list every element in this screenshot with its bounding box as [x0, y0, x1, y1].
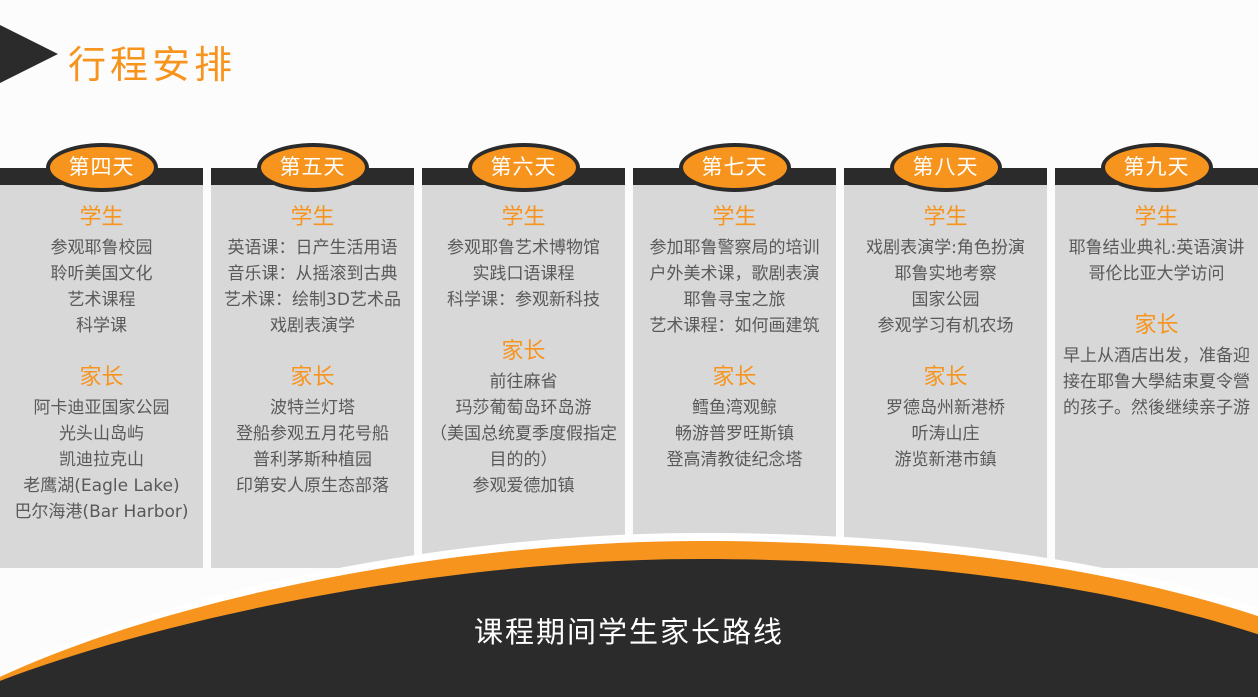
section-spacer	[4, 339, 199, 361]
parent-section-label-4: 家长	[637, 363, 832, 393]
list-item: 戏剧表演学	[215, 313, 410, 339]
list-item: 游览新港市鎮	[848, 447, 1043, 473]
day-badge-3[interactable]: 第六天	[468, 143, 580, 192]
page-title: 行程安排	[68, 34, 236, 89]
list-item: 戏剧表演学:角色扮演	[848, 235, 1043, 261]
list-item: （美国总统夏季度假指定目的的）	[426, 421, 621, 473]
column-body-1: 学生 参观耶鲁校园 聆听美国文化 艺术课程 科学课 家长 阿卡迪亚国家公园 光头…	[0, 185, 203, 568]
day-column-5[interactable]: 第八天 学生 戏剧表演学:角色扮演 耶鲁实地考察 国家公园 参观学习有机农场 家…	[844, 168, 1047, 568]
list-item: 实践口语课程	[426, 261, 621, 287]
student-section-label-6: 学生	[1059, 203, 1254, 233]
day-column-2[interactable]: 第五天 学生 英语课：日产生活用语 音乐课：从摇滚到古典 艺术课：绘制3D艺术品…	[211, 168, 414, 568]
section-spacer	[848, 339, 1043, 361]
parent-section-label-1: 家长	[4, 363, 199, 393]
list-item: 科学课	[4, 313, 199, 339]
day-badge-1[interactable]: 第四天	[46, 143, 158, 192]
list-item: 耶鲁实地考察	[848, 261, 1043, 287]
student-section-label-2: 学生	[215, 203, 410, 233]
list-item: 凯迪拉克山	[4, 447, 199, 473]
parent-section-label-6: 家长	[1059, 311, 1254, 341]
day-column-6[interactable]: 第九天 学生 耶鲁结业典礼:英语演讲 哥伦比亚大学访问 家长 早上从酒店出发，准…	[1055, 168, 1258, 568]
student-section-label-3: 学生	[426, 203, 621, 233]
list-item: 参观学习有机农场	[848, 313, 1043, 339]
list-item: 艺术课程：如何画建筑	[637, 313, 832, 339]
list-item: 老鹰湖(Eagle Lake)	[4, 473, 199, 499]
list-item: 巴尔海港(Bar Harbor)	[4, 499, 199, 525]
day-badge-4[interactable]: 第七天	[679, 143, 791, 192]
list-item: 光头山岛屿	[4, 421, 199, 447]
list-item: 国家公园	[848, 287, 1043, 313]
banner-title: 课程期间学生家长路线	[0, 609, 1258, 651]
list-item: 登船参观五月花号船	[215, 421, 410, 447]
list-item: 户外美术课，歌剧表演	[637, 261, 832, 287]
list-item: 艺术课程	[4, 287, 199, 313]
list-item: 畅游普罗旺斯镇	[637, 421, 832, 447]
list-item: 登高清教徒纪念塔	[637, 447, 832, 473]
list-item: 前往麻省	[426, 369, 621, 395]
title-arrow-icon	[0, 22, 58, 86]
day-column-3[interactable]: 第六天 学生 参观耶鲁艺术博物馆 实践口语课程 科学课：参观新科技 家长 前往麻…	[422, 168, 625, 568]
student-section-label-5: 学生	[848, 203, 1043, 233]
day-badge-2[interactable]: 第五天	[257, 143, 369, 192]
section-spacer	[1059, 287, 1254, 309]
day-badge-5[interactable]: 第八天	[890, 143, 1002, 192]
list-item: 参观耶鲁艺术博物馆	[426, 235, 621, 261]
list-item: 鳕鱼湾观鲸	[637, 395, 832, 421]
column-body-5: 学生 戏剧表演学:角色扮演 耶鲁实地考察 国家公园 参观学习有机农场 家长 罗德…	[844, 185, 1047, 568]
list-item: 艺术课：绘制3D艺术品	[215, 287, 410, 313]
parent-section-label-3: 家长	[426, 337, 621, 367]
list-item: 哥伦比亚大学访问	[1059, 261, 1254, 287]
parent-section-label-5: 家长	[848, 363, 1043, 393]
list-item: 普利茅斯种植园	[215, 447, 410, 473]
list-item: 阿卡迪亚国家公园	[4, 395, 199, 421]
banner-dark-body	[0, 559, 1258, 697]
day-column-1[interactable]: 第四天 学生 参观耶鲁校园 聆听美国文化 艺术课程 科学课 家长 阿卡迪亚国家公…	[0, 168, 203, 568]
list-item: 参观耶鲁校园	[4, 235, 199, 261]
section-spacer	[426, 313, 621, 335]
list-item: 玛莎葡萄岛环岛游	[426, 395, 621, 421]
day-badge-6[interactable]: 第九天	[1101, 143, 1213, 192]
column-body-6: 学生 耶鲁结业典礼:英语演讲 哥伦比亚大学访问 家长 早上从酒店出发，准备迎接在…	[1055, 185, 1258, 568]
list-item: 早上从酒店出发，准备迎接在耶鲁大學結束夏令營的孩子。然後继续亲子游	[1059, 343, 1254, 421]
day-columns-container: 第四天 学生 参观耶鲁校园 聆听美国文化 艺术课程 科学课 家长 阿卡迪亚国家公…	[0, 168, 1258, 568]
parent-section-label-2: 家长	[215, 363, 410, 393]
column-body-4: 学生 参加耶鲁警察局的培训 户外美术课，歌剧表演 耶鲁寻宝之旅 艺术课程：如何画…	[633, 185, 836, 568]
column-body-2: 学生 英语课：日产生活用语 音乐课：从摇滚到古典 艺术课：绘制3D艺术品 戏剧表…	[211, 185, 414, 568]
list-item: 耶鲁结业典礼:英语演讲	[1059, 235, 1254, 261]
slide-canvas: 行程安排 第四天 学生 参观耶鲁校园 聆听美国文化 艺术课程 科学课 家长 阿卡…	[0, 0, 1258, 697]
list-item: 罗德岛州新港桥	[848, 395, 1043, 421]
list-item: 参观爱德加镇	[426, 473, 621, 499]
list-item: 音乐课：从摇滚到古典	[215, 261, 410, 287]
section-spacer	[637, 339, 832, 361]
section-spacer	[215, 339, 410, 361]
column-body-3: 学生 参观耶鲁艺术博物馆 实践口语课程 科学课：参观新科技 家长 前往麻省 玛莎…	[422, 185, 625, 568]
student-section-label-1: 学生	[4, 203, 199, 233]
list-item: 英语课：日产生活用语	[215, 235, 410, 261]
list-item: 聆听美国文化	[4, 261, 199, 287]
list-item: 科学课：参观新科技	[426, 287, 621, 313]
student-section-label-4: 学生	[637, 203, 832, 233]
day-column-4[interactable]: 第七天 学生 参加耶鲁警察局的培训 户外美术课，歌剧表演 耶鲁寻宝之旅 艺术课程…	[633, 168, 836, 568]
list-item: 耶鲁寻宝之旅	[637, 287, 832, 313]
list-item: 波特兰灯塔	[215, 395, 410, 421]
list-item: 印第安人原生态部落	[215, 473, 410, 499]
list-item: 听涛山庄	[848, 421, 1043, 447]
list-item: 参加耶鲁警察局的培训	[637, 235, 832, 261]
